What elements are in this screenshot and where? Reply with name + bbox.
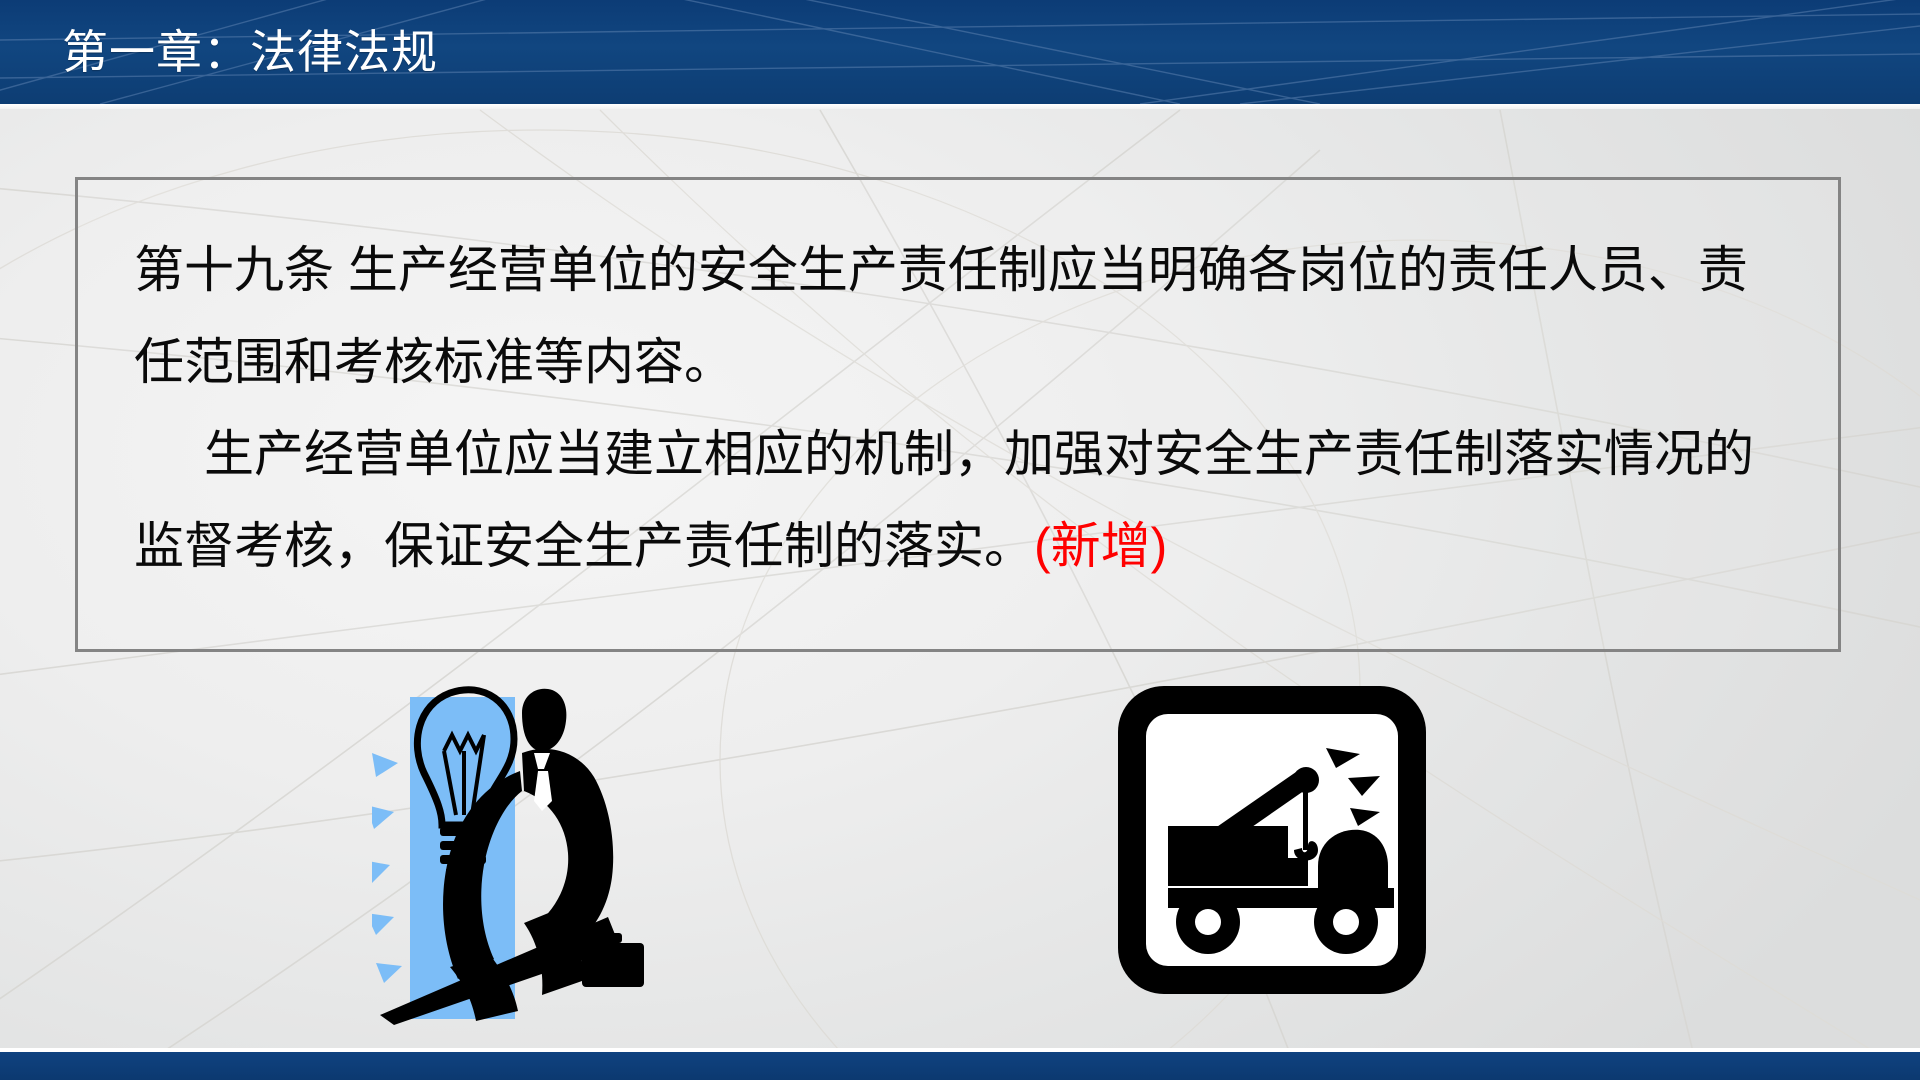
header-banner: 第一章：法律法规: [0, 0, 1920, 104]
article-text-body: 第十九条 生产经营单位的安全生产责任制应当明确各岗位的责任人员、责任范围和考核标…: [134, 224, 1794, 592]
footer-strip: [0, 1052, 1920, 1080]
paragraph-run-text: 第十九条 生产经营单位的安全生产责任制应当明确各岗位的责任人员、责任范围和考核标…: [134, 242, 1748, 390]
paragraph-article-19: 第十九条 生产经营单位的安全生产责任制应当明确各岗位的责任人员、责任范围和考核标…: [134, 224, 1794, 408]
header-underline-divider: [0, 104, 1920, 109]
crane-truck-clipart: [1112, 680, 1432, 1000]
slide-canvas: 第一章：法律法规 第十九条 生产经营单位的安全生产责任制应当明确各岗位的责任人员…: [0, 0, 1920, 1080]
paragraph-run-text: 生产经营单位应当建立相应的机制，加强对安全生产责任制落实情况的监督考核，保证安全…: [134, 426, 1754, 574]
page-title: 第一章：法律法规: [62, 22, 438, 82]
paragraph-article-19-continued: 生产经营单位应当建立相应的机制，加强对安全生产责任制落实情况的监督考核，保证安全…: [134, 408, 1794, 592]
content-text-box: 第十九条 生产经营单位的安全生产责任制应当明确各岗位的责任人员、责任范围和考核标…: [75, 177, 1841, 652]
new-addition-marker: (新增): [1034, 518, 1167, 574]
businessman-with-lightbulb-clipart: [372, 655, 672, 1025]
